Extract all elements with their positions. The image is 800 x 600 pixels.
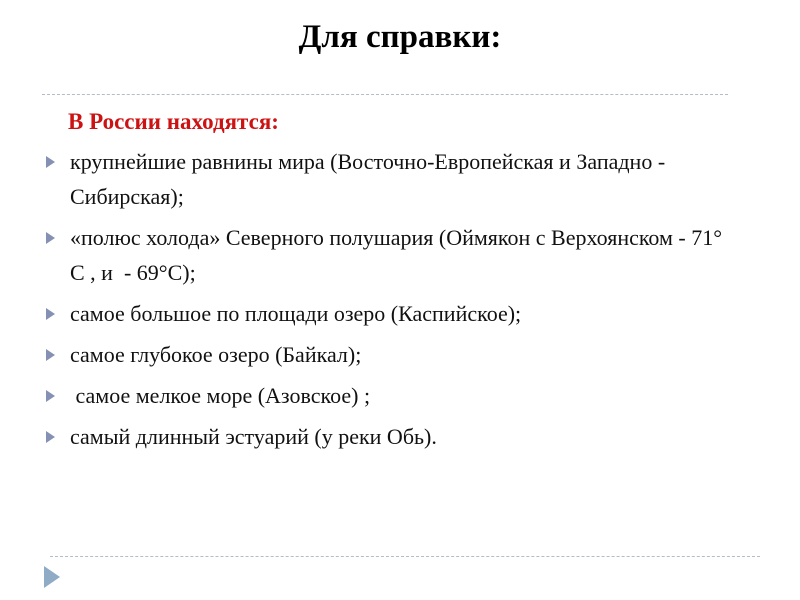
- list-item-label: самый длинный эстуарий (у реки Обь).: [70, 419, 730, 454]
- triangle-bullet-icon: [46, 156, 55, 168]
- list-item-label: «полюс холода» Северного полушария (Оймя…: [70, 220, 730, 290]
- triangle-bullet-icon: [46, 390, 55, 402]
- divider-top: [42, 94, 728, 95]
- list-item: самый длинный эстуарий (у реки Обь).: [0, 419, 800, 454]
- triangle-bullet-icon: [46, 308, 55, 320]
- list-item: самое глубокое озеро (Байкал);: [0, 337, 800, 372]
- list-item-label: самое большое по площади озеро (Каспийск…: [70, 296, 730, 331]
- slide-body: В России находятся: крупнейшие равнины м…: [0, 106, 800, 460]
- bullet-list: крупнейшие равнины мира (Восточно-Европе…: [0, 144, 800, 454]
- list-item-label: крупнейшие равнины мира (Восточно-Европе…: [70, 144, 730, 214]
- list-item: самое большое по площади озеро (Каспийск…: [0, 296, 800, 331]
- list-item-label: самое мелкое море (Азовское) ;: [70, 378, 730, 413]
- triangle-bullet-icon: [46, 232, 55, 244]
- list-item: «полюс холода» Северного полушария (Оймя…: [0, 220, 800, 290]
- divider-bottom: [50, 556, 760, 557]
- list-item-label: самое глубокое озеро (Байкал);: [70, 337, 730, 372]
- triangle-bullet-icon: [46, 431, 55, 443]
- next-slide-triangle-icon[interactable]: [44, 566, 60, 588]
- subtitle: В России находятся:: [68, 106, 800, 138]
- page-title: Для справки:: [0, 16, 800, 58]
- triangle-bullet-icon: [46, 349, 55, 361]
- slide: Для справки: В России находятся: крупней…: [0, 0, 800, 600]
- list-item: крупнейшие равнины мира (Восточно-Европе…: [0, 144, 800, 214]
- list-item: самое мелкое море (Азовское) ;: [0, 378, 800, 413]
